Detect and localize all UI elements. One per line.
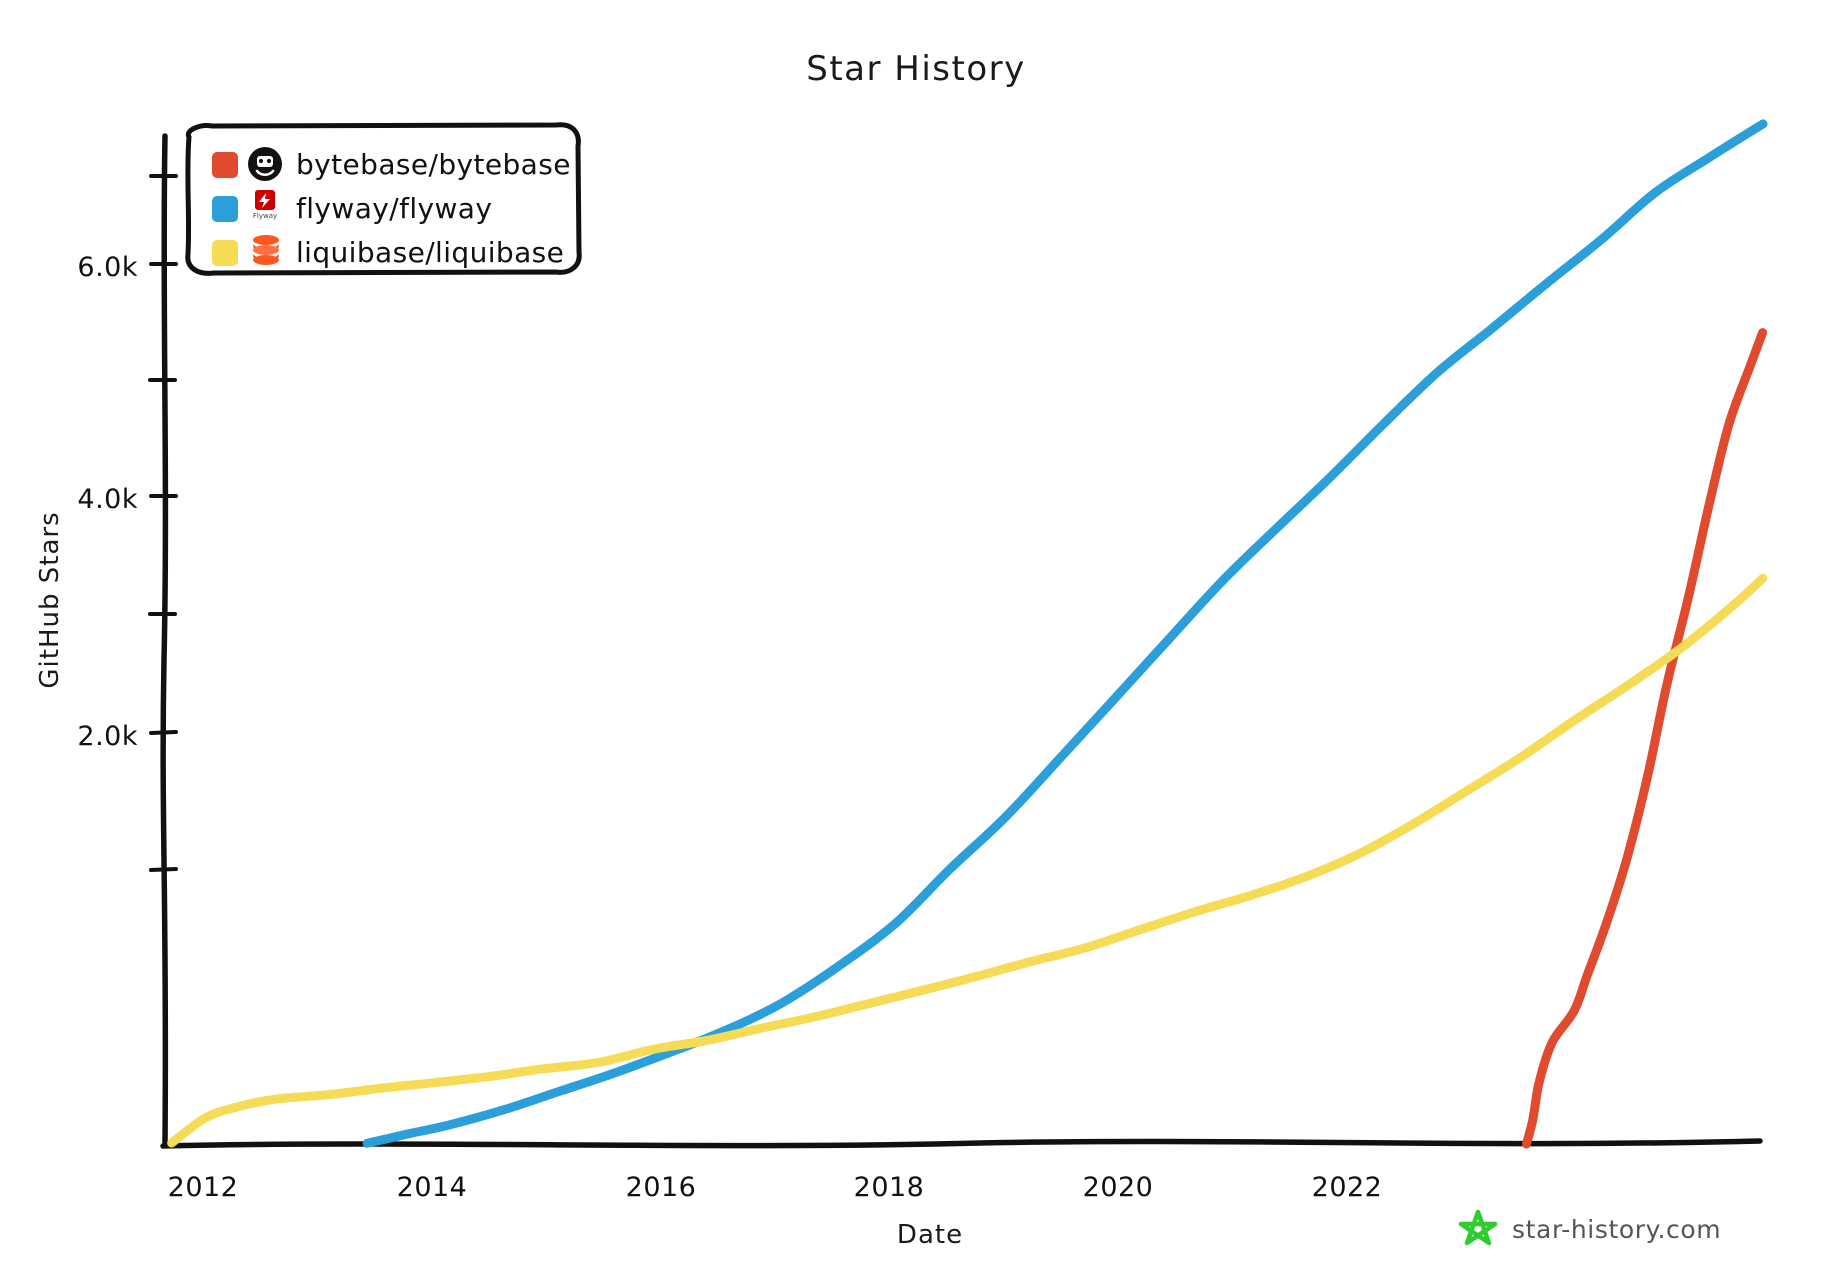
flyway-logo-icon: Flyway	[253, 190, 277, 220]
series-line-liquibase	[172, 578, 1763, 1143]
legend-swatch-flyway	[212, 196, 238, 222]
series-layer	[172, 124, 1763, 1144]
y-tick-label-2k: 2.0k	[77, 721, 138, 752]
x-tick-label-2016: 2016	[626, 1172, 697, 1203]
series-line-flyway	[367, 124, 1763, 1143]
y-tick-label-6k: 6.0k	[77, 252, 138, 283]
star-history-chart: Star History 2.0k 4.0k 6.0k GitHub Stars…	[0, 0, 1832, 1276]
x-tick-label-2022: 2022	[1312, 1172, 1383, 1203]
x-tick-label-2020: 2020	[1083, 1172, 1154, 1203]
legend-swatch-bytebase	[212, 152, 238, 178]
legend-label-bytebase: bytebase/bytebase	[296, 148, 571, 181]
chart-title: Star History	[806, 49, 1026, 89]
legend-item-liquibase[interactable]: liquibase/liquibase	[212, 235, 564, 269]
x-axis-title: Date	[897, 1220, 963, 1250]
legend-label-flyway: flyway/flyway	[296, 192, 492, 225]
x-tick-label-2014: 2014	[397, 1172, 468, 1203]
svg-text:Flyway: Flyway	[253, 212, 277, 220]
x-tick-label-2018: 2018	[854, 1172, 925, 1203]
legend-label-liquibase: liquibase/liquibase	[296, 236, 564, 269]
y-axis-line	[163, 136, 165, 1144]
watermark[interactable]: star-history.com	[1461, 1212, 1721, 1244]
chart-legend: bytebase/bytebase Flyway flyway/flyway	[188, 125, 579, 274]
series-line-bytebase	[1527, 333, 1763, 1144]
star-icon	[1461, 1212, 1495, 1243]
bytebase-logo-icon	[248, 147, 282, 181]
y-tick-mark	[151, 732, 176, 733]
watermark-label: star-history.com	[1512, 1215, 1721, 1244]
x-tick-label-2012: 2012	[168, 1172, 239, 1203]
liquibase-logo-icon	[253, 235, 279, 265]
y-tick-label-4k: 4.0k	[77, 484, 138, 515]
chart-canvas: Star History 2.0k 4.0k 6.0k GitHub Stars…	[0, 0, 1832, 1276]
y-tick-mark	[151, 869, 176, 870]
legend-item-bytebase[interactable]: bytebase/bytebase	[212, 147, 571, 181]
y-axis-title: GitHub Stars	[35, 511, 65, 688]
x-axis-line	[163, 1141, 1760, 1146]
legend-swatch-liquibase	[212, 240, 238, 266]
